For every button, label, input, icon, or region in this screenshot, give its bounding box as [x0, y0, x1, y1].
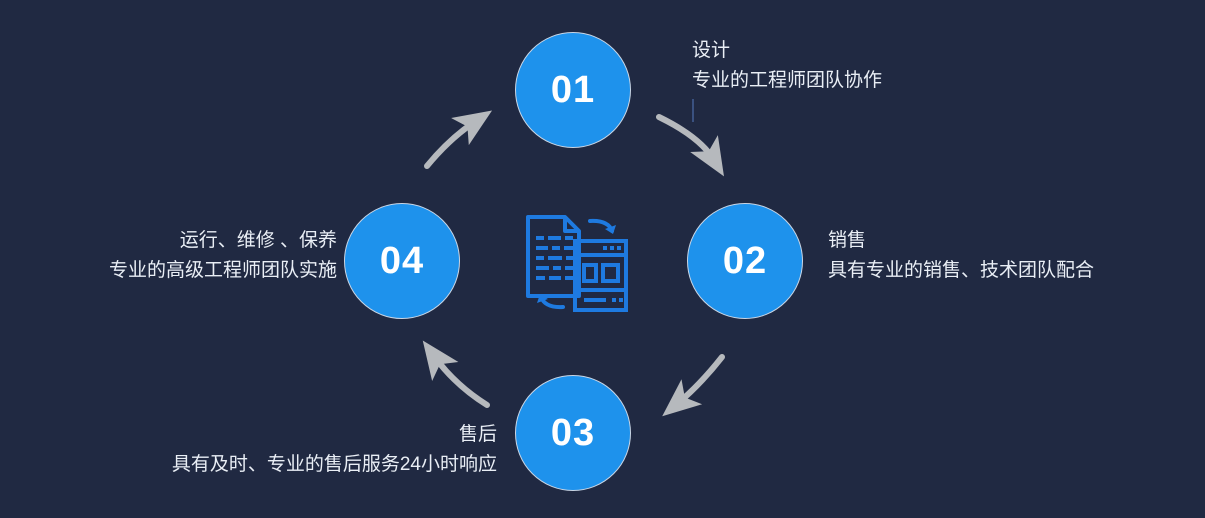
step-description-04: 专业的高级工程师团队实施 [109, 256, 337, 286]
document-sync-icon [518, 205, 636, 323]
step-circle-01[interactable]: 01 [515, 32, 631, 148]
step-title-02: 销售 [828, 226, 1094, 256]
step-description-03: 具有及时、专业的售后服务24小时响应 [172, 450, 497, 480]
arrow-01-to-02 [659, 117, 714, 160]
step-number-02: 02 [723, 242, 767, 280]
step-label-01: 设计 专业的工程师团队协作 [692, 36, 882, 96]
step-circle-02[interactable]: 02 [687, 203, 803, 319]
step-title-03: 售后 [172, 420, 497, 450]
cycle-diagram-canvas: 01 02 03 04 设计 专业的工程师团队协作 销售 具有专业的销售、技术团… [0, 0, 1205, 518]
step-number-01: 01 [551, 71, 595, 109]
arrow-04-to-01 [427, 121, 476, 166]
arrow-02-to-03 [677, 357, 722, 404]
step-label-04: 运行、维修 、保养 专业的高级工程师团队实施 [109, 226, 337, 286]
step-title-04: 运行、维修 、保养 [109, 226, 337, 256]
step-circle-03[interactable]: 03 [515, 375, 631, 491]
step-label-02: 销售 具有专业的销售、技术团队配合 [828, 226, 1094, 286]
step-number-03: 03 [551, 414, 595, 452]
step-description-02: 具有专业的销售、技术团队配合 [828, 256, 1094, 286]
step-number-04: 04 [380, 242, 424, 280]
arrow-03-to-04 [434, 356, 487, 405]
step-circle-04[interactable]: 04 [344, 203, 460, 319]
step-description-01: 专业的工程师团队协作 [692, 66, 882, 96]
step-title-01: 设计 [692, 36, 882, 66]
decorative-tick-mark [692, 99, 694, 122]
step-label-03: 售后 具有及时、专业的售后服务24小时响应 [172, 420, 497, 480]
